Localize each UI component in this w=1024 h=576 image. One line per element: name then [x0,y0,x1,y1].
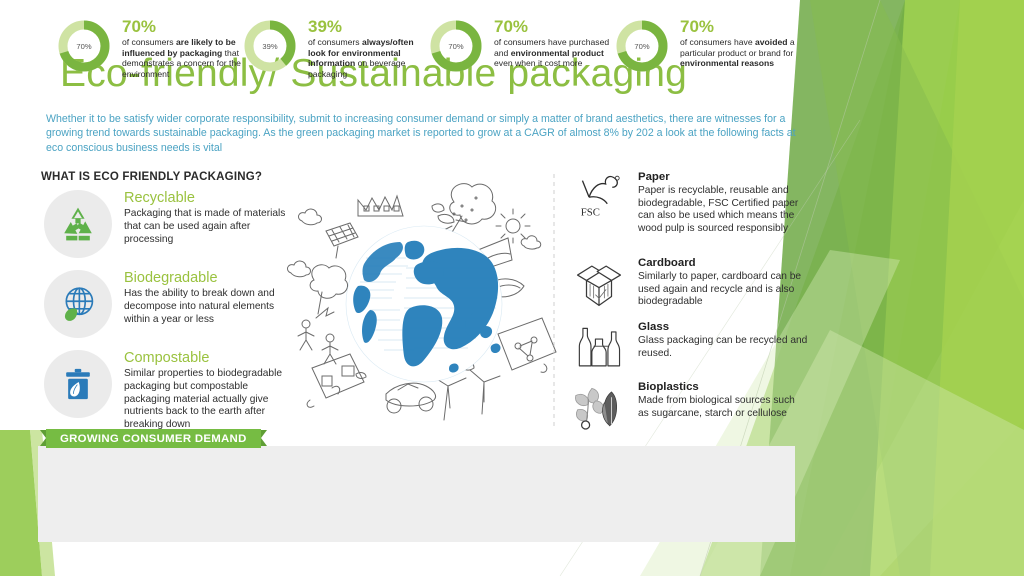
stat-item: 70% 70% of consumers have avoided a part… [614,18,802,69]
stat-body: 70% of consumers have purchased and envi… [494,18,616,69]
donut-percent-label: 70% [428,18,484,74]
donut-chart: 70% [56,18,112,74]
material-text: Paper Paper is recyclable, reusable and … [638,170,808,235]
globe-leaf-icon [44,270,112,338]
stat-description: of consumers always/often look for envir… [308,37,430,79]
feature-text: Recyclable Packaging that is made of mat… [124,190,294,246]
leaf-corn-icon [568,380,630,436]
material-title: Glass [638,320,808,334]
donut-chart: 39% [242,18,298,74]
feature-text: Compostable Similar properties to biodeg… [124,350,294,432]
stat-description: of consumers are likely to be influenced… [122,37,244,79]
section-heading-what-is-eco-friendly: WHAT IS ECO FRIENDLY PACKAGING? [41,171,262,183]
stat-big-number: 70% [680,18,802,36]
stat-item: 70% 70% of consumers have purchased and … [428,18,616,69]
feature-compostable: Compostable Similar properties to biodeg… [44,350,294,432]
stat-item: 39% 39% of consumers always/often look f… [242,18,430,79]
growing-consumer-demand-banner: GROWING CONSUMER DEMAND [46,429,261,448]
stat-description: of consumers have purchased and environm… [494,37,616,69]
feature-title: Biodegradable [124,270,294,287]
stat-body: 70% of consumers are likely to be influe… [122,18,244,79]
donut-chart: 70% [614,18,670,74]
feature-title: Recyclable [124,190,294,207]
donut-chart: 70% [428,18,484,74]
feature-biodegradable: Biodegradable Has the ability to break d… [44,270,294,326]
material-body: Made from biological sources such as sug… [638,395,808,420]
feature-text: Biodegradable Has the ability to break d… [124,270,294,326]
material-bioplastics: Bioplastics Made from biological sources… [568,380,808,420]
feature-body: Similar properties to biodegradable pack… [124,368,294,432]
consumer-demand-panel [38,446,795,542]
feature-body: Has the ability to break down and decomp… [124,288,294,326]
feature-body: Packaging that is made of materials that… [124,208,294,246]
material-title: Paper [638,170,808,184]
donut-percent-label: 70% [614,18,670,74]
glass-bottles-icon [568,320,630,376]
stat-body: 70% of consumers have avoided a particul… [680,18,802,69]
feature-title: Compostable [124,350,294,367]
material-title: Cardboard [638,256,808,270]
slide-canvas: Eco-friendly/ Sustainable packaging Whet… [0,0,1024,576]
material-glass: Glass Glass packaging can be recycled an… [568,320,808,360]
material-cardboard: Cardboard Similarly to paper, cardboard … [568,256,808,309]
stat-big-number: 39% [308,18,430,36]
material-body: Paper is recyclable, reusable and biodeg… [638,185,808,235]
recycle-icon [44,190,112,258]
material-body: Similarly to paper, cardboard can be use… [638,271,808,309]
stat-body: 39% of consumers always/often look for e… [308,18,430,79]
fsc-caption: FSC [581,206,600,218]
material-paper: FSC Paper Paper is recyclable, reusable … [568,170,808,235]
cardboard-box-icon [568,256,630,312]
material-text: Glass Glass packaging can be recycled an… [638,320,808,360]
intro-paragraph: Whether it to be satisfy wider corporate… [46,112,801,155]
compost-bin-leaf-icon [44,350,112,418]
material-title: Bioplastics [638,380,808,394]
material-body: Glass packaging can be recycled and reus… [638,335,808,360]
material-text: Bioplastics Made from biological sources… [638,380,808,420]
material-text: Cardboard Similarly to paper, cardboard … [638,256,808,309]
stat-item: 70% 70% of consumers are likely to be in… [56,18,244,79]
donut-percent-label: 70% [56,18,112,74]
feature-recyclable: Recyclable Packaging that is made of mat… [44,190,294,246]
donut-percent-label: 39% [242,18,298,74]
fsc-tree-icon: FSC [568,170,630,226]
stat-big-number: 70% [494,18,616,36]
stat-big-number: 70% [122,18,244,36]
stat-description: of consumers have avoided a particular p… [680,37,802,69]
hand-drawn-earth-eco-doodles [286,168,562,434]
